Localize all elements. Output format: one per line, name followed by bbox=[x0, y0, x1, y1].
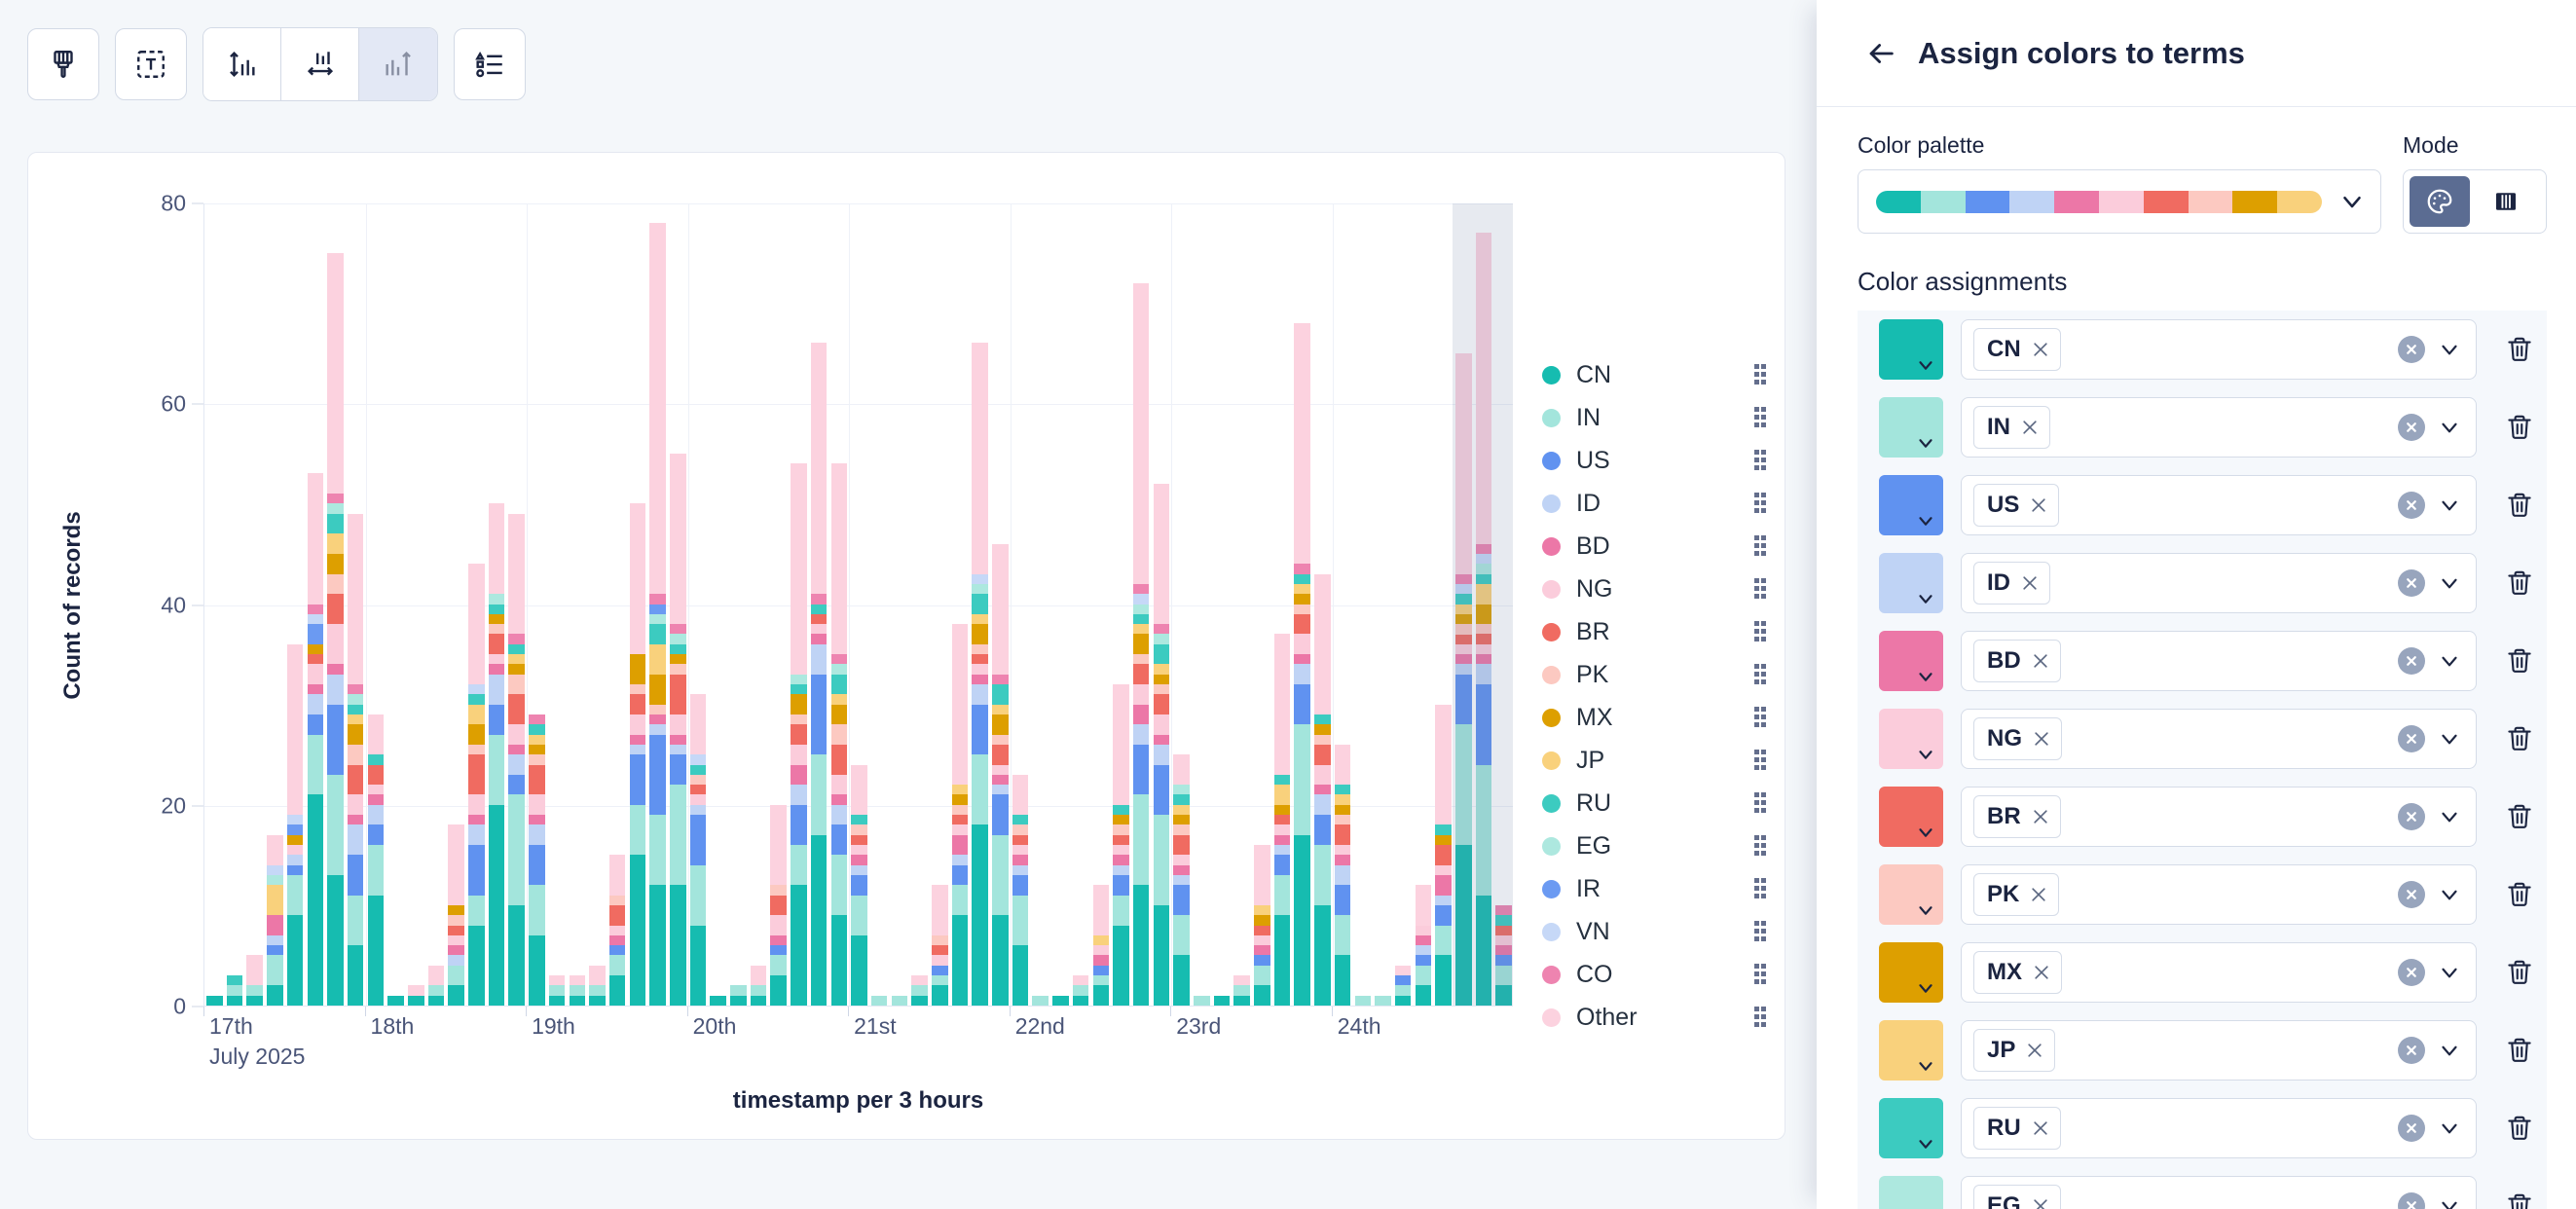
stacked-bar[interactable] bbox=[670, 454, 686, 1006]
bar-segment[interactable] bbox=[1073, 975, 1089, 985]
bar-segment[interactable] bbox=[1012, 875, 1029, 896]
drag-handle-icon[interactable] bbox=[1754, 707, 1766, 728]
bar-segment[interactable] bbox=[670, 675, 686, 714]
delete-assignment-button[interactable] bbox=[2494, 1020, 2545, 1081]
bar-segment[interactable] bbox=[952, 855, 969, 864]
bar-segment[interactable] bbox=[1294, 835, 1310, 1006]
bar-segment[interactable] bbox=[1113, 855, 1129, 864]
bar-segment[interactable] bbox=[1133, 634, 1150, 654]
bar-segment[interactable] bbox=[508, 514, 525, 635]
bar-segment[interactable] bbox=[508, 754, 525, 775]
bar-segment[interactable] bbox=[448, 915, 464, 925]
stacked-bar[interactable] bbox=[348, 514, 364, 1006]
color-swatch-picker[interactable] bbox=[1879, 553, 1943, 613]
bar-segment[interactable] bbox=[1154, 694, 1170, 714]
bar-segment[interactable] bbox=[1133, 624, 1150, 634]
stacked-bar[interactable] bbox=[831, 463, 848, 1006]
remove-term-icon[interactable] bbox=[2031, 1196, 2050, 1209]
bar-segment[interactable] bbox=[348, 684, 364, 694]
drag-handle-icon[interactable] bbox=[1754, 407, 1766, 428]
bar-segment[interactable] bbox=[952, 885, 969, 915]
bar-segment[interactable] bbox=[348, 705, 364, 714]
bar-segment[interactable] bbox=[327, 594, 344, 624]
bar-segment[interactable] bbox=[609, 855, 626, 895]
gradient-mode-button[interactable] bbox=[2476, 176, 2536, 227]
bar-segment[interactable] bbox=[529, 794, 545, 815]
stacked-bar[interactable] bbox=[529, 714, 545, 1006]
bar-segment[interactable] bbox=[1294, 634, 1310, 654]
bar-segment[interactable] bbox=[508, 654, 525, 664]
bar-segment[interactable] bbox=[670, 785, 686, 885]
bar-segment[interactable] bbox=[670, 754, 686, 785]
bar-segment[interactable] bbox=[308, 714, 324, 735]
bar-segment[interactable] bbox=[227, 975, 243, 985]
bar-segment[interactable] bbox=[972, 675, 988, 684]
stacked-bar[interactable] bbox=[448, 824, 464, 1006]
color-swatch-picker[interactable] bbox=[1879, 631, 1943, 691]
bar-segment[interactable] bbox=[670, 664, 686, 674]
bar-segment[interactable] bbox=[649, 223, 666, 595]
bar-segment[interactable] bbox=[972, 705, 988, 755]
legend-item[interactable]: CO bbox=[1542, 953, 1766, 996]
bar-segment[interactable] bbox=[670, 654, 686, 664]
drag-handle-icon[interactable] bbox=[1754, 535, 1766, 557]
bar-segment[interactable] bbox=[489, 664, 505, 674]
bar-segment[interactable] bbox=[932, 935, 948, 945]
bar-segment[interactable] bbox=[468, 694, 485, 704]
bar-segment[interactable] bbox=[267, 935, 283, 945]
bar-segment[interactable] bbox=[972, 824, 988, 1006]
bar-segment[interactable] bbox=[1416, 966, 1432, 986]
bar-segment[interactable] bbox=[1012, 945, 1029, 1006]
bar-segment[interactable] bbox=[308, 794, 324, 1006]
clear-selection-icon[interactable] bbox=[2398, 959, 2425, 986]
stacked-bar[interactable] bbox=[1375, 996, 1391, 1006]
bar-segment[interactable] bbox=[1416, 955, 1432, 965]
drag-handle-icon[interactable] bbox=[1754, 621, 1766, 642]
bar-segment[interactable] bbox=[992, 684, 1009, 705]
term-combobox[interactable]: IN bbox=[1961, 397, 2477, 458]
bar-segment[interactable] bbox=[630, 684, 646, 694]
color-palette-select[interactable] bbox=[1858, 169, 2381, 234]
bar-segment[interactable] bbox=[952, 815, 969, 824]
stacked-bar[interactable] bbox=[992, 544, 1009, 1006]
bar-segment[interactable] bbox=[649, 624, 666, 644]
bar-segment[interactable] bbox=[348, 765, 364, 795]
remove-term-icon[interactable] bbox=[2025, 1041, 2044, 1060]
chevron-down-icon[interactable] bbox=[2437, 493, 2462, 518]
stacked-bar[interactable] bbox=[206, 996, 223, 1006]
bar-segment[interactable] bbox=[308, 614, 324, 624]
bar-segment[interactable] bbox=[811, 754, 828, 835]
bar-segment[interactable] bbox=[348, 514, 364, 684]
bar-segment[interactable] bbox=[1435, 845, 1452, 865]
bar-segment[interactable] bbox=[489, 675, 505, 705]
bar-segment[interactable] bbox=[1435, 865, 1452, 875]
bar-segment[interactable] bbox=[630, 745, 646, 754]
bar-segment[interactable] bbox=[1093, 985, 1110, 1006]
legend-item[interactable]: BR bbox=[1542, 610, 1766, 653]
bar-segment[interactable] bbox=[508, 634, 525, 643]
bar-segment[interactable] bbox=[831, 705, 848, 725]
bar-segment[interactable] bbox=[892, 996, 908, 1006]
stacked-bar[interactable] bbox=[1154, 484, 1170, 1006]
bar-segment[interactable] bbox=[1133, 705, 1150, 725]
bar-segment[interactable] bbox=[508, 675, 525, 695]
bar-segment[interactable] bbox=[489, 705, 505, 735]
bar-segment[interactable] bbox=[1416, 885, 1432, 925]
bar-segment[interactable] bbox=[327, 533, 344, 554]
bar-segment[interactable] bbox=[1133, 584, 1150, 594]
bar-segment[interactable] bbox=[529, 754, 545, 764]
drag-handle-icon[interactable] bbox=[1754, 450, 1766, 471]
bar-segment[interactable] bbox=[368, 714, 385, 754]
bar-segment[interactable] bbox=[529, 745, 545, 754]
drag-handle-icon[interactable] bbox=[1754, 493, 1766, 514]
bar-segment[interactable] bbox=[327, 574, 344, 595]
style-brush-button[interactable] bbox=[27, 28, 99, 100]
bar-segment[interactable] bbox=[1093, 935, 1110, 945]
bar-segment[interactable] bbox=[1274, 815, 1291, 824]
bar-segment[interactable] bbox=[770, 975, 787, 1006]
bar-segment[interactable] bbox=[287, 875, 304, 915]
bar-segment[interactable] bbox=[1093, 945, 1110, 955]
bar-segment[interactable] bbox=[630, 754, 646, 805]
bar-segment[interactable] bbox=[468, 896, 485, 926]
stacked-bar[interactable] bbox=[1073, 975, 1089, 1006]
bar-segment[interactable] bbox=[1294, 564, 1310, 573]
bar-segment[interactable] bbox=[972, 624, 988, 644]
remove-term-icon[interactable] bbox=[2020, 573, 2040, 593]
bar-segment[interactable] bbox=[508, 644, 525, 654]
bar-segment[interactable] bbox=[1133, 745, 1150, 795]
bar-segment[interactable] bbox=[972, 664, 988, 674]
term-combobox[interactable]: RU bbox=[1961, 1098, 2477, 1158]
stacked-bar[interactable] bbox=[932, 885, 948, 1006]
bar-segment[interactable] bbox=[529, 845, 545, 885]
bar-segment[interactable] bbox=[1395, 985, 1412, 995]
legend-item[interactable]: Other bbox=[1542, 996, 1766, 1039]
bar-segment[interactable] bbox=[831, 654, 848, 664]
color-swatch-picker[interactable] bbox=[1879, 475, 1943, 535]
bar-segment[interactable] bbox=[489, 594, 505, 604]
bar-segment[interactable] bbox=[1093, 966, 1110, 975]
bar-segment[interactable] bbox=[1073, 996, 1089, 1006]
bar-segment[interactable] bbox=[570, 975, 586, 985]
bar-segment[interactable] bbox=[1395, 996, 1412, 1006]
bar-segment[interactable] bbox=[1012, 775, 1029, 815]
chevron-down-icon[interactable] bbox=[2437, 1193, 2462, 1209]
horizontal-axis-button[interactable] bbox=[281, 28, 359, 100]
chevron-down-icon[interactable] bbox=[2437, 882, 2462, 907]
bar-segment[interactable] bbox=[227, 985, 243, 995]
bar-segment[interactable] bbox=[791, 684, 807, 694]
bar-segment[interactable] bbox=[851, 815, 867, 824]
bar-segment[interactable] bbox=[690, 926, 707, 1007]
bar-segment[interactable] bbox=[1012, 824, 1029, 834]
bar-segment[interactable] bbox=[670, 714, 686, 735]
legend-item[interactable]: PK bbox=[1542, 653, 1766, 696]
bar-segment[interactable] bbox=[649, 614, 666, 624]
bar-segment[interactable] bbox=[649, 705, 666, 714]
bar-segment[interactable] bbox=[1294, 654, 1310, 664]
bar-segment[interactable] bbox=[1294, 614, 1310, 635]
stacked-bar[interactable] bbox=[508, 514, 525, 1006]
back-button[interactable] bbox=[1859, 32, 1902, 75]
bar-segment[interactable] bbox=[287, 845, 304, 855]
bar-segment[interactable] bbox=[770, 885, 787, 895]
legend-item[interactable]: IR bbox=[1542, 867, 1766, 910]
delete-assignment-button[interactable] bbox=[2494, 475, 2545, 535]
bar-segment[interactable] bbox=[811, 835, 828, 1006]
chevron-down-icon[interactable] bbox=[2437, 415, 2462, 440]
bar-segment[interactable] bbox=[327, 514, 344, 534]
bar-segment[interactable] bbox=[831, 775, 848, 795]
stacked-bar[interactable] bbox=[911, 975, 928, 1006]
drag-handle-icon[interactable] bbox=[1754, 835, 1766, 857]
bar-segment[interactable] bbox=[1154, 675, 1170, 684]
bar-segment[interactable] bbox=[1335, 955, 1351, 1006]
color-swatch-picker[interactable] bbox=[1879, 787, 1943, 847]
delete-assignment-button[interactable] bbox=[2494, 631, 2545, 691]
bar-segment[interactable] bbox=[811, 343, 828, 594]
bar-segment[interactable] bbox=[327, 705, 344, 775]
remove-term-icon[interactable] bbox=[2029, 495, 2048, 515]
bar-segment[interactable] bbox=[529, 765, 545, 795]
bar-segment[interactable] bbox=[992, 794, 1009, 834]
bar-segment[interactable] bbox=[428, 985, 445, 995]
bar-segment[interactable] bbox=[448, 935, 464, 945]
chevron-down-icon[interactable] bbox=[2437, 1038, 2462, 1063]
bar-segment[interactable] bbox=[992, 785, 1009, 794]
bar-segment[interactable] bbox=[468, 745, 485, 754]
bar-segment[interactable] bbox=[1274, 845, 1291, 855]
bar-segment[interactable] bbox=[670, 454, 686, 624]
bar-segment[interactable] bbox=[932, 955, 948, 965]
stacked-bar[interactable] bbox=[690, 694, 707, 1006]
bar-segment[interactable] bbox=[489, 654, 505, 664]
stacked-bar[interactable] bbox=[549, 975, 566, 1006]
bar-segment[interactable] bbox=[348, 714, 364, 724]
bar-segment[interactable] bbox=[992, 544, 1009, 675]
bar-segment[interactable] bbox=[1032, 996, 1049, 1006]
bar-segment[interactable] bbox=[831, 745, 848, 775]
bar-segment[interactable] bbox=[308, 694, 324, 714]
bar-segment[interactable] bbox=[1113, 865, 1129, 875]
bar-segment[interactable] bbox=[1093, 955, 1110, 965]
bar-segment[interactable] bbox=[609, 975, 626, 1006]
bar-segment[interactable] bbox=[1274, 785, 1291, 805]
stacked-bar[interactable] bbox=[1355, 996, 1372, 1006]
bar-segment[interactable] bbox=[690, 785, 707, 794]
bar-segment[interactable] bbox=[1133, 604, 1150, 614]
bar-segment[interactable] bbox=[1133, 664, 1150, 684]
bar-segment[interactable] bbox=[1314, 765, 1331, 786]
bar-segment[interactable] bbox=[649, 885, 666, 1006]
bar-segment[interactable] bbox=[1012, 896, 1029, 946]
bar-segment[interactable] bbox=[670, 644, 686, 654]
bar-segment[interactable] bbox=[368, 754, 385, 764]
bar-segment[interactable] bbox=[911, 985, 928, 995]
stacked-bar[interactable] bbox=[570, 975, 586, 1006]
bar-segment[interactable] bbox=[1233, 985, 1250, 995]
bar-segment[interactable] bbox=[1416, 935, 1432, 945]
clear-selection-icon[interactable] bbox=[2398, 803, 2425, 830]
bar-segment[interactable] bbox=[1154, 714, 1170, 735]
stacked-bar[interactable] bbox=[287, 644, 304, 1006]
bar-segment[interactable] bbox=[1435, 896, 1452, 905]
bar-segment[interactable] bbox=[690, 765, 707, 775]
bar-segment[interactable] bbox=[308, 644, 324, 654]
bar-segment[interactable] bbox=[952, 785, 969, 794]
bar-segment[interactable] bbox=[1274, 875, 1291, 915]
bar-segment[interactable] bbox=[770, 896, 787, 916]
bar-segment[interactable] bbox=[831, 805, 848, 825]
bar-segment[interactable] bbox=[630, 694, 646, 714]
legend-item[interactable]: IN bbox=[1542, 396, 1766, 439]
bar-segment[interactable] bbox=[408, 985, 424, 995]
bar-segment[interactable] bbox=[972, 594, 988, 614]
bar-segment[interactable] bbox=[851, 865, 867, 875]
term-combobox[interactable]: ID bbox=[1961, 553, 2477, 613]
delete-assignment-button[interactable] bbox=[2494, 319, 2545, 380]
bar-segment[interactable] bbox=[1093, 885, 1110, 935]
bar-segment[interactable] bbox=[1254, 966, 1270, 986]
stacked-bar[interactable] bbox=[489, 503, 505, 1006]
bar-segment[interactable] bbox=[468, 705, 485, 725]
bar-segment[interactable] bbox=[609, 905, 626, 926]
color-swatch-picker[interactable] bbox=[1879, 709, 1943, 769]
remove-term-icon[interactable] bbox=[2031, 1118, 2050, 1138]
bar-segment[interactable] bbox=[1335, 794, 1351, 804]
bar-segment[interactable] bbox=[327, 624, 344, 664]
bar-segment[interactable] bbox=[267, 885, 283, 915]
bar-segment[interactable] bbox=[1314, 785, 1331, 794]
bar-segment[interactable] bbox=[570, 985, 586, 995]
bar-segment[interactable] bbox=[1254, 955, 1270, 965]
bar-segment[interactable] bbox=[489, 624, 505, 634]
bar-segment[interactable] bbox=[1113, 815, 1129, 824]
term-combobox[interactable]: CN bbox=[1961, 319, 2477, 380]
bar-segment[interactable] bbox=[952, 624, 969, 785]
bar-segment[interactable] bbox=[932, 975, 948, 985]
bar-segment[interactable] bbox=[1274, 915, 1291, 1006]
clear-selection-icon[interactable] bbox=[2398, 414, 2425, 441]
drag-handle-icon[interactable] bbox=[1754, 750, 1766, 771]
stacked-bar[interactable] bbox=[327, 253, 344, 1006]
bar-segment[interactable] bbox=[649, 735, 666, 816]
bar-segment[interactable] bbox=[609, 945, 626, 955]
bar-segment[interactable] bbox=[549, 985, 566, 995]
bar-segment[interactable] bbox=[1435, 905, 1452, 926]
bar-segment[interactable] bbox=[690, 794, 707, 804]
bar-segment[interactable] bbox=[1335, 845, 1351, 855]
bar-segment[interactable] bbox=[1314, 905, 1331, 1006]
bar-segment[interactable] bbox=[287, 865, 304, 875]
bar-segment[interactable] bbox=[1435, 955, 1452, 1006]
bar-segment[interactable] bbox=[1314, 745, 1331, 765]
bar-segment[interactable] bbox=[1214, 996, 1231, 1006]
bar-segment[interactable] bbox=[1294, 724, 1310, 834]
bar-segment[interactable] bbox=[992, 714, 1009, 735]
bar-segment[interactable] bbox=[468, 564, 485, 684]
bar-segment[interactable] bbox=[348, 896, 364, 946]
bar-segment[interactable] bbox=[549, 996, 566, 1006]
bar-segment[interactable] bbox=[368, 896, 385, 1006]
bar-segment[interactable] bbox=[649, 815, 666, 885]
bar-segment[interactable] bbox=[670, 885, 686, 1006]
bar-segment[interactable] bbox=[1395, 966, 1412, 975]
bar-segment[interactable] bbox=[1173, 824, 1190, 834]
bar-segment[interactable] bbox=[1335, 824, 1351, 845]
chevron-down-icon[interactable] bbox=[2437, 1116, 2462, 1141]
drag-handle-icon[interactable] bbox=[1754, 364, 1766, 385]
bar-segment[interactable] bbox=[489, 614, 505, 624]
stacked-bar[interactable] bbox=[730, 985, 747, 1006]
bar-segment[interactable] bbox=[1416, 926, 1432, 935]
bar-segment[interactable] bbox=[1173, 785, 1190, 794]
bar-segment[interactable] bbox=[529, 824, 545, 845]
bar-segment[interactable] bbox=[630, 714, 646, 735]
legend-item[interactable]: JP bbox=[1542, 739, 1766, 782]
stacked-bar[interactable] bbox=[1314, 574, 1331, 1006]
clear-selection-icon[interactable] bbox=[2398, 647, 2425, 675]
bar-segment[interactable] bbox=[529, 714, 545, 724]
bar-segment[interactable] bbox=[851, 855, 867, 864]
bar-segment[interactable] bbox=[1314, 845, 1331, 905]
bar-segment[interactable] bbox=[287, 824, 304, 834]
bar-segment[interactable] bbox=[1335, 745, 1351, 785]
legend-item[interactable]: VN bbox=[1542, 910, 1766, 953]
bar-segment[interactable] bbox=[690, 805, 707, 815]
bar-segment[interactable] bbox=[791, 765, 807, 786]
bar-segment[interactable] bbox=[1274, 855, 1291, 875]
bar-segment[interactable] bbox=[348, 745, 364, 765]
bar-segment[interactable] bbox=[690, 815, 707, 865]
bar-segment[interactable] bbox=[811, 634, 828, 643]
bar-segment[interactable] bbox=[468, 724, 485, 745]
delete-assignment-button[interactable] bbox=[2494, 864, 2545, 925]
stacked-bar[interactable] bbox=[267, 835, 283, 1006]
bar-segment[interactable] bbox=[811, 644, 828, 675]
bar-segment[interactable] bbox=[831, 824, 848, 855]
bar-segment[interactable] bbox=[448, 955, 464, 965]
bar-segment[interactable] bbox=[408, 996, 424, 1006]
bar-segment[interactable] bbox=[489, 604, 505, 614]
bar-segment[interactable] bbox=[1335, 805, 1351, 815]
bar-segment[interactable] bbox=[1435, 835, 1452, 845]
bar-segment[interactable] bbox=[1416, 945, 1432, 955]
color-swatch-picker[interactable] bbox=[1879, 942, 1943, 1003]
bar-segment[interactable] bbox=[468, 754, 485, 794]
bar-segment[interactable] bbox=[1133, 724, 1150, 745]
bar-segment[interactable] bbox=[609, 896, 626, 905]
term-combobox[interactable]: PK bbox=[1961, 864, 2477, 925]
stacked-bar[interactable] bbox=[811, 343, 828, 1006]
bar-segment[interactable] bbox=[1254, 945, 1270, 955]
bar-segment[interactable] bbox=[1173, 835, 1190, 856]
bar-segment[interactable] bbox=[468, 684, 485, 694]
bar-segment[interactable] bbox=[589, 985, 606, 995]
bar-segment[interactable] bbox=[670, 624, 686, 634]
bar-segment[interactable] bbox=[327, 875, 344, 1006]
drag-handle-icon[interactable] bbox=[1754, 1007, 1766, 1028]
drag-handle-icon[interactable] bbox=[1754, 964, 1766, 985]
bar-segment[interactable] bbox=[952, 805, 969, 815]
palette-mode-button[interactable] bbox=[2410, 176, 2470, 227]
drag-handle-icon[interactable] bbox=[1754, 664, 1766, 685]
remove-term-icon[interactable] bbox=[2031, 807, 2050, 826]
